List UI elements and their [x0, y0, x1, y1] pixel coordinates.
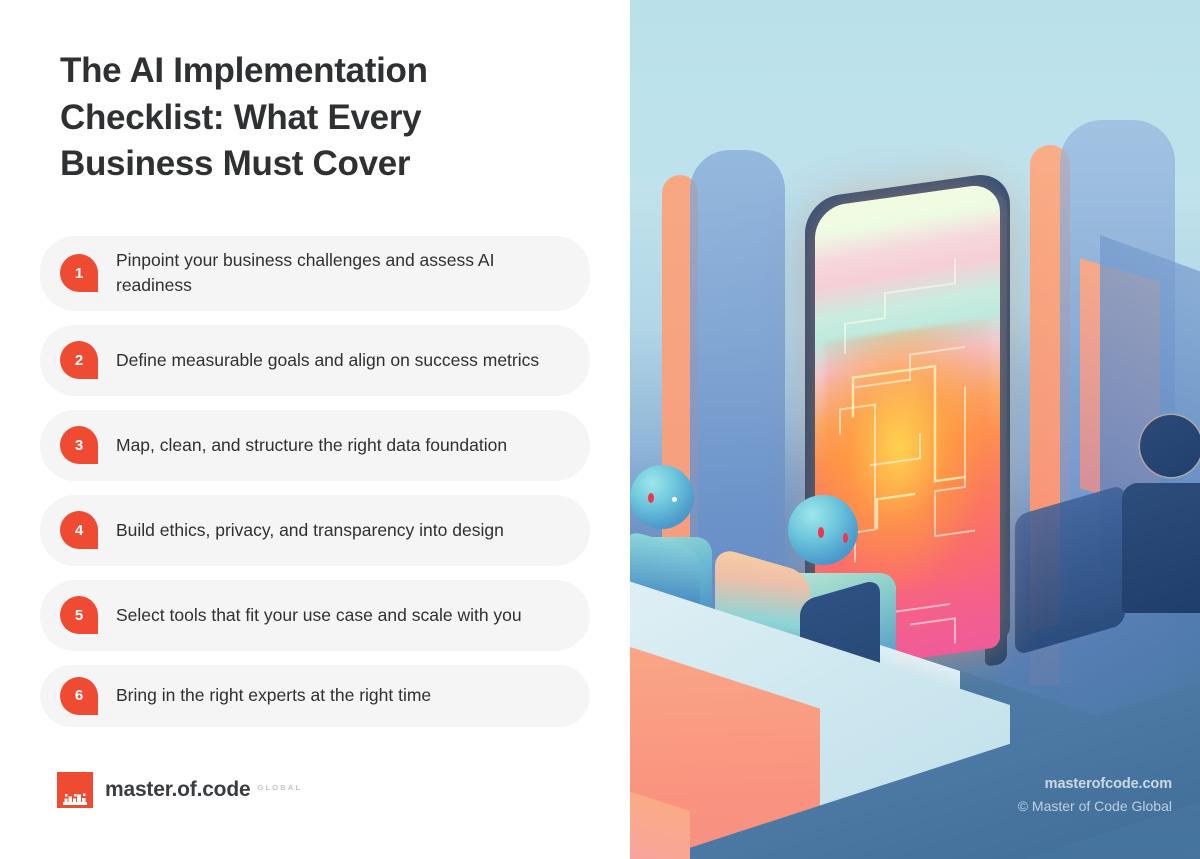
robot-body [1122, 483, 1200, 613]
robot-eye [648, 493, 654, 503]
robot-head [788, 495, 858, 565]
hero-illustration: masterofcode.com © Master of Code Global [630, 0, 1200, 859]
list-item-label: Bring in the right experts at the right … [116, 683, 431, 708]
list-item[interactable]: 6 Bring in the right experts at the righ… [40, 665, 590, 727]
robot-icon [1128, 415, 1200, 615]
list-item[interactable]: 3 Map, clean, and structure the right da… [40, 410, 590, 481]
watermark-site: masterofcode.com [1018, 774, 1172, 796]
list-item[interactable]: 1 Pinpoint your business challenges and … [40, 236, 590, 311]
checklist: 1 Pinpoint your business challenges and … [40, 236, 590, 741]
robot-head [630, 465, 694, 529]
brand-logo[interactable]: master.of.code GLOBAL [57, 772, 302, 808]
crown-icon [57, 772, 93, 808]
logo-wordmark: master.of.code [105, 778, 250, 802]
watermark: masterofcode.com © Master of Code Global [1018, 774, 1172, 817]
list-item[interactable]: 5 Select tools that fit your use case an… [40, 580, 590, 651]
list-item-label: Define measurable goals and align on suc… [116, 348, 539, 373]
list-item-label: Map, clean, and structure the right data… [116, 433, 507, 458]
step-number-badge: 3 [60, 426, 98, 464]
list-item-label: Select tools that fit your use case and … [116, 603, 522, 628]
robot-head [1140, 415, 1200, 477]
list-item[interactable]: 2 Define measurable goals and align on s… [40, 325, 590, 396]
page-title: The AI Implementation Checklist: What Ev… [60, 48, 560, 188]
infographic-page: The AI Implementation Checklist: What Ev… [0, 0, 1200, 859]
step-number-badge: 1 [60, 254, 98, 292]
content-panel: The AI Implementation Checklist: What Ev… [0, 0, 630, 859]
list-item-label: Pinpoint your business challenges and as… [116, 248, 564, 299]
step-number-badge: 5 [60, 596, 98, 634]
watermark-copyright: © Master of Code Global [1018, 796, 1172, 817]
step-number-badge: 2 [60, 341, 98, 379]
step-number-badge: 4 [60, 511, 98, 549]
robot-eye [843, 533, 848, 543]
list-item[interactable]: 4 Build ethics, privacy, and transparenc… [40, 495, 590, 566]
list-item-label: Build ethics, privacy, and transparency … [116, 518, 504, 543]
step-number-badge: 6 [60, 677, 98, 715]
robot-eye [818, 527, 824, 538]
robot-highlight [672, 497, 677, 502]
logo-tagline: GLOBAL [257, 783, 302, 797]
